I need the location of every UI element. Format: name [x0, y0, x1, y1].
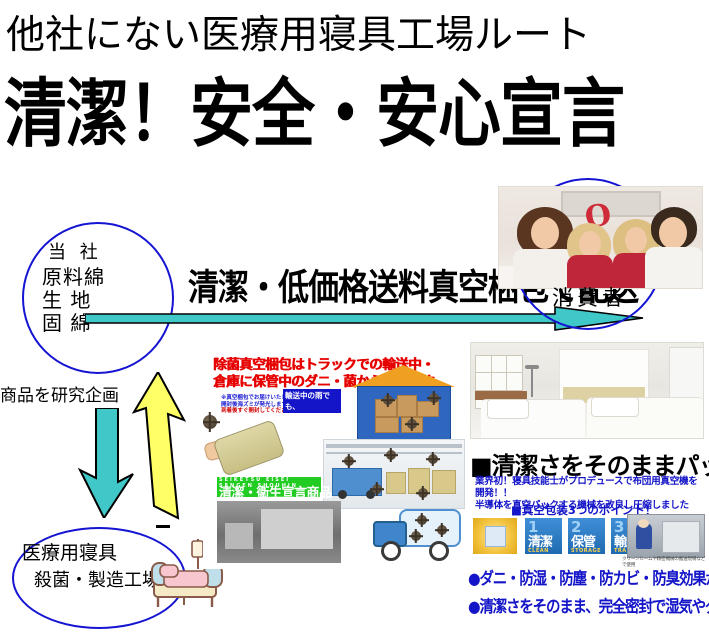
vacuum-pack-panel: ■清潔さをそのままパック 業界初！寝具技能士がプロデュースで布団用真空機を開発！… — [465, 342, 709, 639]
rain-caption-line2: 防湿効果抜群！ — [285, 412, 339, 423]
family-photo: O — [498, 186, 703, 289]
company-material-1: 原料綿 — [42, 266, 162, 289]
point-box-2: 2 保管 STORAGE — [568, 518, 605, 554]
bedroom-photo — [470, 342, 704, 439]
point-2-english: STORAGE — [571, 548, 601, 554]
benefit-bullet-1: ●ダニ・防湿・防塵・防カビ・防臭効果がバツグンです。 — [468, 566, 709, 590]
point-box-1: 1 清潔 CLEAN — [525, 518, 562, 554]
cleanroom-photo — [627, 514, 705, 558]
up-arrow-yellow — [132, 372, 190, 524]
green-banner-text: 清潔・衛生宣言商品 — [219, 482, 332, 501]
pack-description-line1: 業界初！寝具技能士がプロデュースで布団用真空機を開発！！ — [475, 476, 703, 500]
point-1-english: CLEAN — [528, 548, 549, 554]
benefit-bullet-2: ●清潔さをそのまま、完全密封で湿気やダニ・塵などをシャットアウト。 — [468, 594, 709, 618]
transport-collage-panel: 除菌真空梱包はトラックでの輸送中・ 倉庫に保管中のダニ・菌から守ります ※真空梱… — [203, 355, 465, 569]
mite-icon — [203, 415, 217, 429]
headline-main-title: 清潔！安全・安心宣言 — [4, 72, 624, 157]
down-arrow-teal — [78, 408, 138, 518]
company-label: 当 社 — [42, 240, 162, 266]
factory-scene-illustration — [323, 439, 465, 509]
research-plan-label: 商品を研究企画 — [0, 381, 119, 406]
vacuum-cube-badge — [473, 518, 517, 554]
rain-truck-photo — [217, 501, 341, 563]
rain-caption-line1: 輸送中の雨でも、 — [285, 390, 339, 412]
poster-canvas: 他社にない医療用寝具工場ルート 清潔！安全・安心宣言 当 社 原料綿 生 地 固… — [0, 0, 709, 639]
warehouse-illustration — [351, 365, 455, 441]
clean-declaration-banner: SEIKETSU EISEI SENGEN SHOUHIN 清潔・衛生宣言商品 — [217, 477, 321, 497]
packed-bedding-roll — [212, 419, 285, 477]
dash-mark-1 — [156, 525, 170, 528]
headline-subtitle: 他社にない医療用寝具工場ルート — [6, 14, 591, 58]
delivery-truck-illustration — [373, 507, 459, 559]
consumer-label: 消費者 — [552, 282, 627, 312]
rain-truck-caption: 輸送中の雨でも、 防湿効果抜群！ — [283, 389, 341, 413]
